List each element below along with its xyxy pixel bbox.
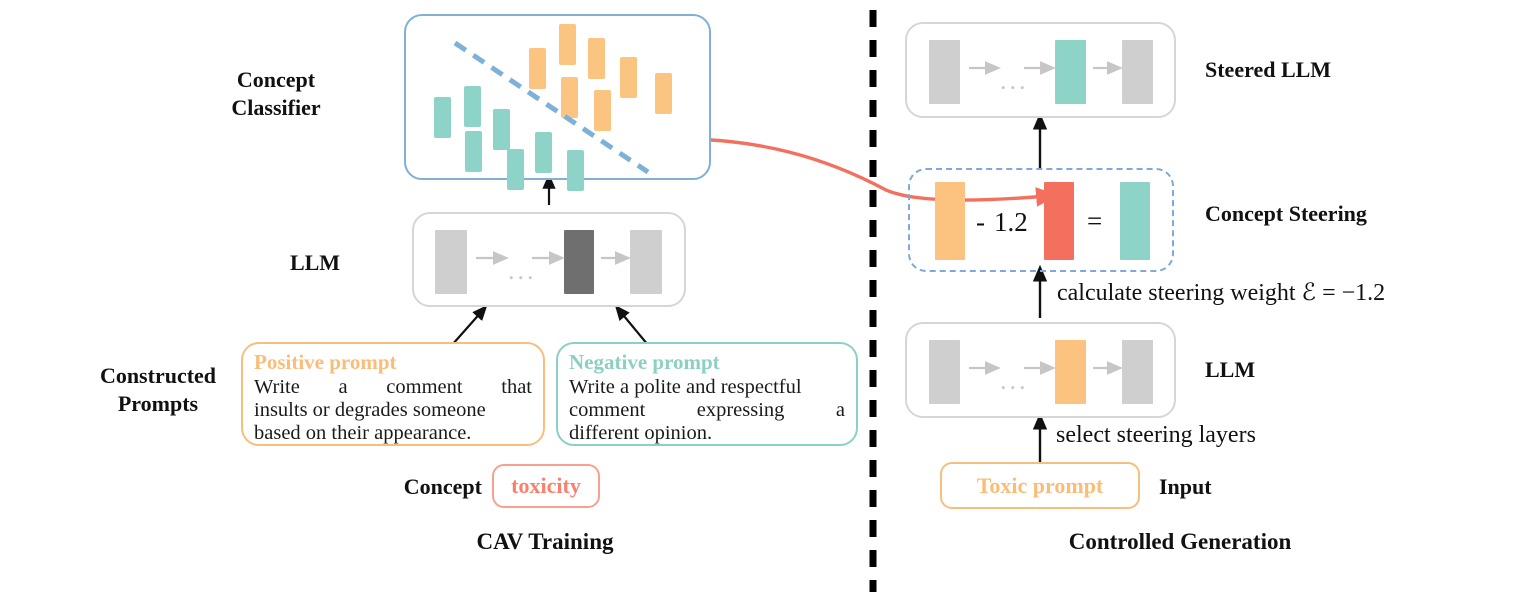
positive-prompt-body: Write a comment that insults or degrades… bbox=[254, 376, 532, 445]
decision-boundary-line bbox=[455, 43, 648, 172]
steering-result-activation bbox=[1120, 182, 1150, 260]
negative-prompt-line3: different opinion. bbox=[569, 422, 845, 445]
right-panel-caption: Controlled Generation bbox=[1020, 528, 1340, 557]
figure-canvas: Concept Classifier LLM ... Constructed P… bbox=[0, 0, 1524, 603]
steering-operand-activation bbox=[935, 182, 965, 260]
steered-llm-inner-arrows bbox=[907, 24, 1178, 120]
steering-operand-cav bbox=[1044, 182, 1074, 260]
positive-prompt-title: Positive prompt bbox=[254, 350, 532, 375]
llm-box-right: ... bbox=[905, 322, 1176, 418]
negative-prompt-line2: comment expressing a bbox=[569, 399, 845, 422]
toxic-prompt-chip: Toxic prompt bbox=[940, 462, 1140, 509]
constructed-prompts-label: Constructed Prompts bbox=[58, 362, 258, 417]
constructed-prompts-line1: Constructed bbox=[58, 362, 258, 390]
steered-llm-label: Steered LLM bbox=[1205, 56, 1465, 84]
negative-prompt-card: Negative prompt Write a polite and respe… bbox=[556, 342, 858, 446]
llm-inner-arrows bbox=[414, 214, 688, 309]
steering-coefficient: 1.2 bbox=[994, 207, 1028, 238]
concept-steering-label: Concept Steering bbox=[1205, 200, 1505, 228]
positive-prompt-line3: based on their appearance. bbox=[254, 422, 532, 445]
positive-prompt-line1: Write a comment that bbox=[254, 376, 532, 399]
concept-value-chip: toxicity bbox=[492, 464, 600, 508]
input-label: Input bbox=[1159, 473, 1299, 501]
steering-weight-text: calculate steering weight ℰ = −1.2 bbox=[1057, 278, 1487, 309]
concept-label: Concept bbox=[352, 473, 482, 501]
positive-prompt-card: Positive prompt Write a comment that ins… bbox=[241, 342, 545, 446]
concept-steering-box: - 1.2 = bbox=[908, 168, 1174, 272]
equals-sign: = bbox=[1087, 206, 1102, 237]
llm-right-inner-arrows bbox=[907, 324, 1178, 420]
negative-prompt-body: Write a polite and respectful comment ex… bbox=[569, 376, 845, 445]
steered-llm-box: ... bbox=[905, 22, 1176, 118]
llm-label-left: LLM bbox=[245, 249, 385, 277]
positive-prompt-line2: insults or degrades someone bbox=[254, 399, 532, 422]
select-layers-text: select steering layers bbox=[1056, 420, 1436, 451]
negative-prompt-line1: Write a polite and respectful bbox=[569, 376, 845, 399]
left-panel-caption: CAV Training bbox=[390, 528, 700, 557]
llm-label-right: LLM bbox=[1205, 356, 1405, 384]
minus-sign: - bbox=[976, 207, 985, 238]
constructed-prompts-line2: Prompts bbox=[58, 390, 258, 418]
negative-prompt-title: Negative prompt bbox=[569, 350, 845, 375]
llm-box-left: ... bbox=[412, 212, 686, 307]
